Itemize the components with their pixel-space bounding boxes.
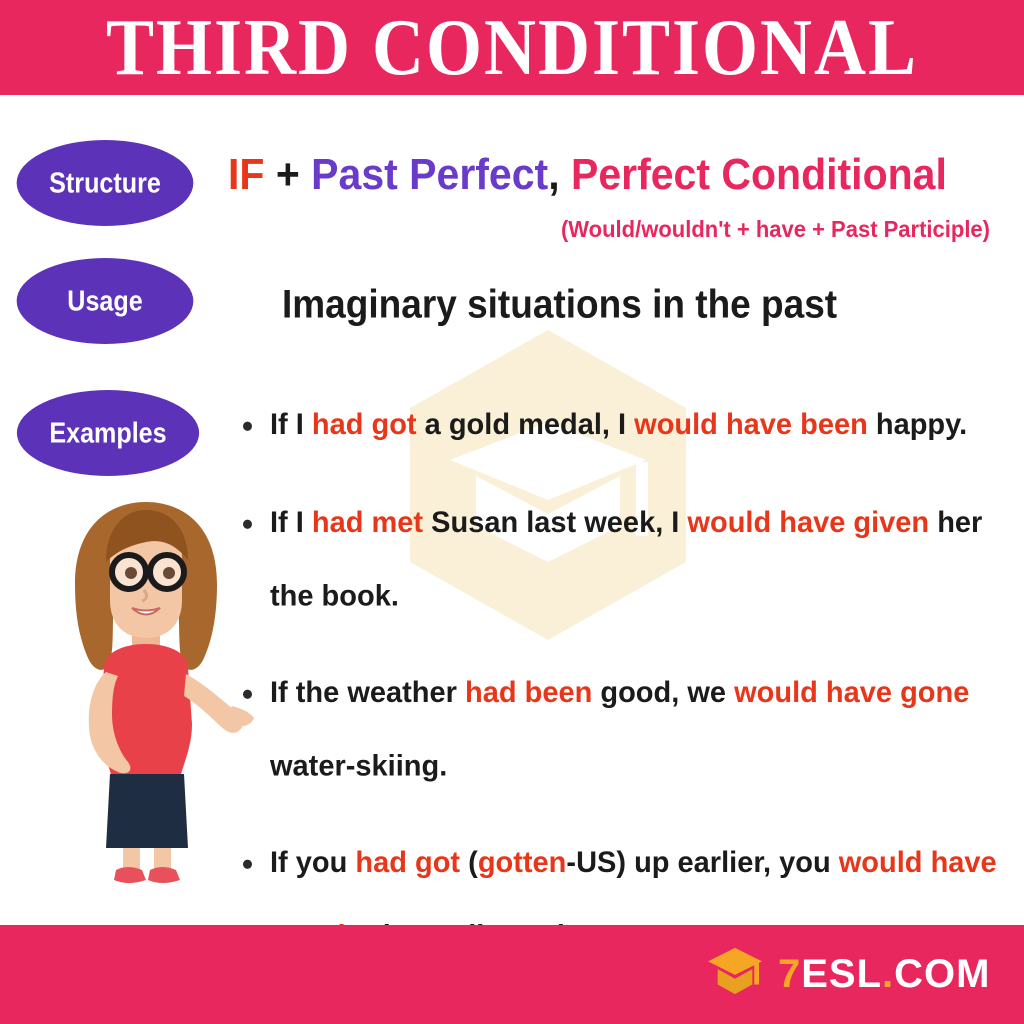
example-segment: had met [312, 506, 423, 539]
teacher-illustration [28, 492, 264, 902]
example-segment: had been [465, 676, 592, 709]
badge-examples-label: Examples [49, 417, 166, 450]
example-segment: If you [270, 846, 355, 879]
example-segment: would have gone [734, 676, 969, 709]
badge-usage-label: Usage [67, 285, 142, 318]
bullet-icon [243, 422, 252, 431]
example-segment: would have given [687, 506, 929, 539]
example-segment: If I [270, 408, 312, 441]
logo-esl: ESL [801, 952, 882, 996]
site-logo[interactable]: 7ESL.COM [706, 945, 991, 1003]
example-segment: If the weather [270, 676, 465, 709]
badge-usage: Usage [17, 258, 194, 344]
structure-segment-plus: + [264, 150, 311, 199]
example-segment: good, we [592, 676, 734, 709]
examples-list: If I had got a gold medal, I would have … [240, 388, 1010, 996]
example-segment: -US) up earlier, you [566, 846, 838, 879]
logo-seven: 7 [778, 952, 801, 996]
graduation-cap-icon [706, 946, 764, 1003]
example-segment: gotten [478, 846, 567, 879]
badge-examples: Examples [17, 390, 199, 476]
badge-structure: Structure [17, 140, 194, 226]
example-segment: Susan last week, I [423, 506, 687, 539]
infographic-page: THIRD CONDITIONAL Structure IF + Past Pe… [0, 0, 1024, 1024]
example-segment: water-skiing. [270, 750, 447, 783]
example-item: If I had met Susan last week, I would ha… [240, 486, 1010, 633]
example-segment: had got [355, 846, 460, 879]
example-segment: happy. [868, 408, 967, 441]
logo-com: COM [894, 952, 990, 996]
structure-subtitle: (Would/wouldn't + have + Past Participle… [228, 216, 990, 243]
structure-segment-comma: , [548, 150, 571, 199]
structure-segment-if: IF [228, 150, 264, 199]
example-segment: If I [270, 506, 312, 539]
example-segment: had got [312, 408, 417, 441]
structure-segment-perfect-conditional: Perfect Conditional [571, 150, 947, 199]
badge-structure-label: Structure [49, 167, 161, 200]
example-segment: would have been [634, 408, 868, 441]
example-segment: ( [460, 846, 478, 879]
structure-segment-past-perfect: Past Perfect [311, 150, 548, 199]
logo-wordmark: 7ESL.COM [778, 952, 991, 997]
page-title: THIRD CONDITIONAL [0, 0, 1024, 101]
structure-formula: IF + Past Perfect, Perfect Conditional [228, 152, 1008, 198]
example-segment: a gold medal, I [417, 408, 635, 441]
example-item: If the weather had been good, we would h… [240, 656, 1010, 803]
example-item: If I had got a gold medal, I would have … [240, 388, 1010, 461]
logo-dot: . [882, 952, 894, 996]
usage-text: Imaginary situations in the past [282, 282, 837, 327]
